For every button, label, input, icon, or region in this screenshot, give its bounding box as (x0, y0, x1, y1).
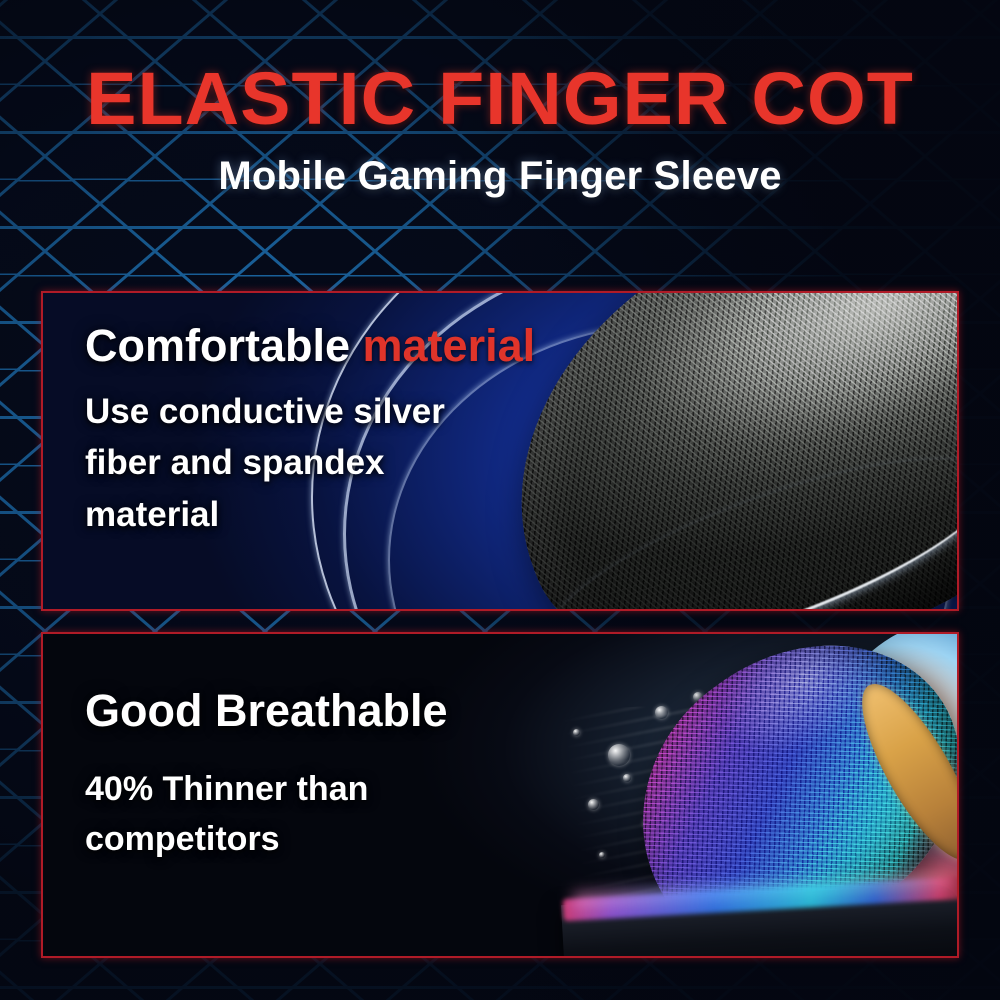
panel-1-heading: Comfortable material (85, 323, 535, 370)
feature-panel-good-breathable: Good Breathable 40% Thinner than competi… (41, 632, 959, 958)
panel-1-body-line: fiber and spandex (85, 437, 535, 488)
panel-1-body-line: Use conductive silver (85, 386, 535, 437)
page-title: ELASTIC FINGER COT (0, 0, 1000, 136)
panel-1-text-block: Comfortable material Use conductive silv… (85, 323, 535, 540)
panel-1-body: Use conductive silver fiber and spandex … (85, 370, 535, 540)
product-infographic-poster: ELASTIC FINGER COT Mobile Gaming Finger … (0, 0, 1000, 1000)
panel-2-body-line: 40% Thinner than (85, 765, 448, 815)
poster-header: ELASTIC FINGER COT Mobile Gaming Finger … (0, 0, 1000, 196)
panel-2-heading: Good Breathable (85, 688, 448, 735)
panel-2-body: 40% Thinner than competitors (85, 735, 448, 865)
air-bubble-icon (599, 852, 605, 858)
air-bubble-icon (655, 706, 668, 719)
panel-1-heading-accent: material (363, 320, 536, 371)
panel-2-heading-white: Good Breathable (85, 685, 448, 736)
feature-panel-comfortable-material: Comfortable material Use conductive silv… (41, 291, 959, 611)
panel-2-body-line: competitors (85, 815, 448, 865)
air-bubble-icon (573, 729, 580, 736)
page-subtitle: Mobile Gaming Finger Sleeve (0, 136, 1000, 196)
panel-1-heading-white: Comfortable (85, 320, 363, 371)
panel-1-body-line: material (85, 489, 535, 540)
panel-2-text-block: Good Breathable 40% Thinner than competi… (85, 688, 448, 865)
